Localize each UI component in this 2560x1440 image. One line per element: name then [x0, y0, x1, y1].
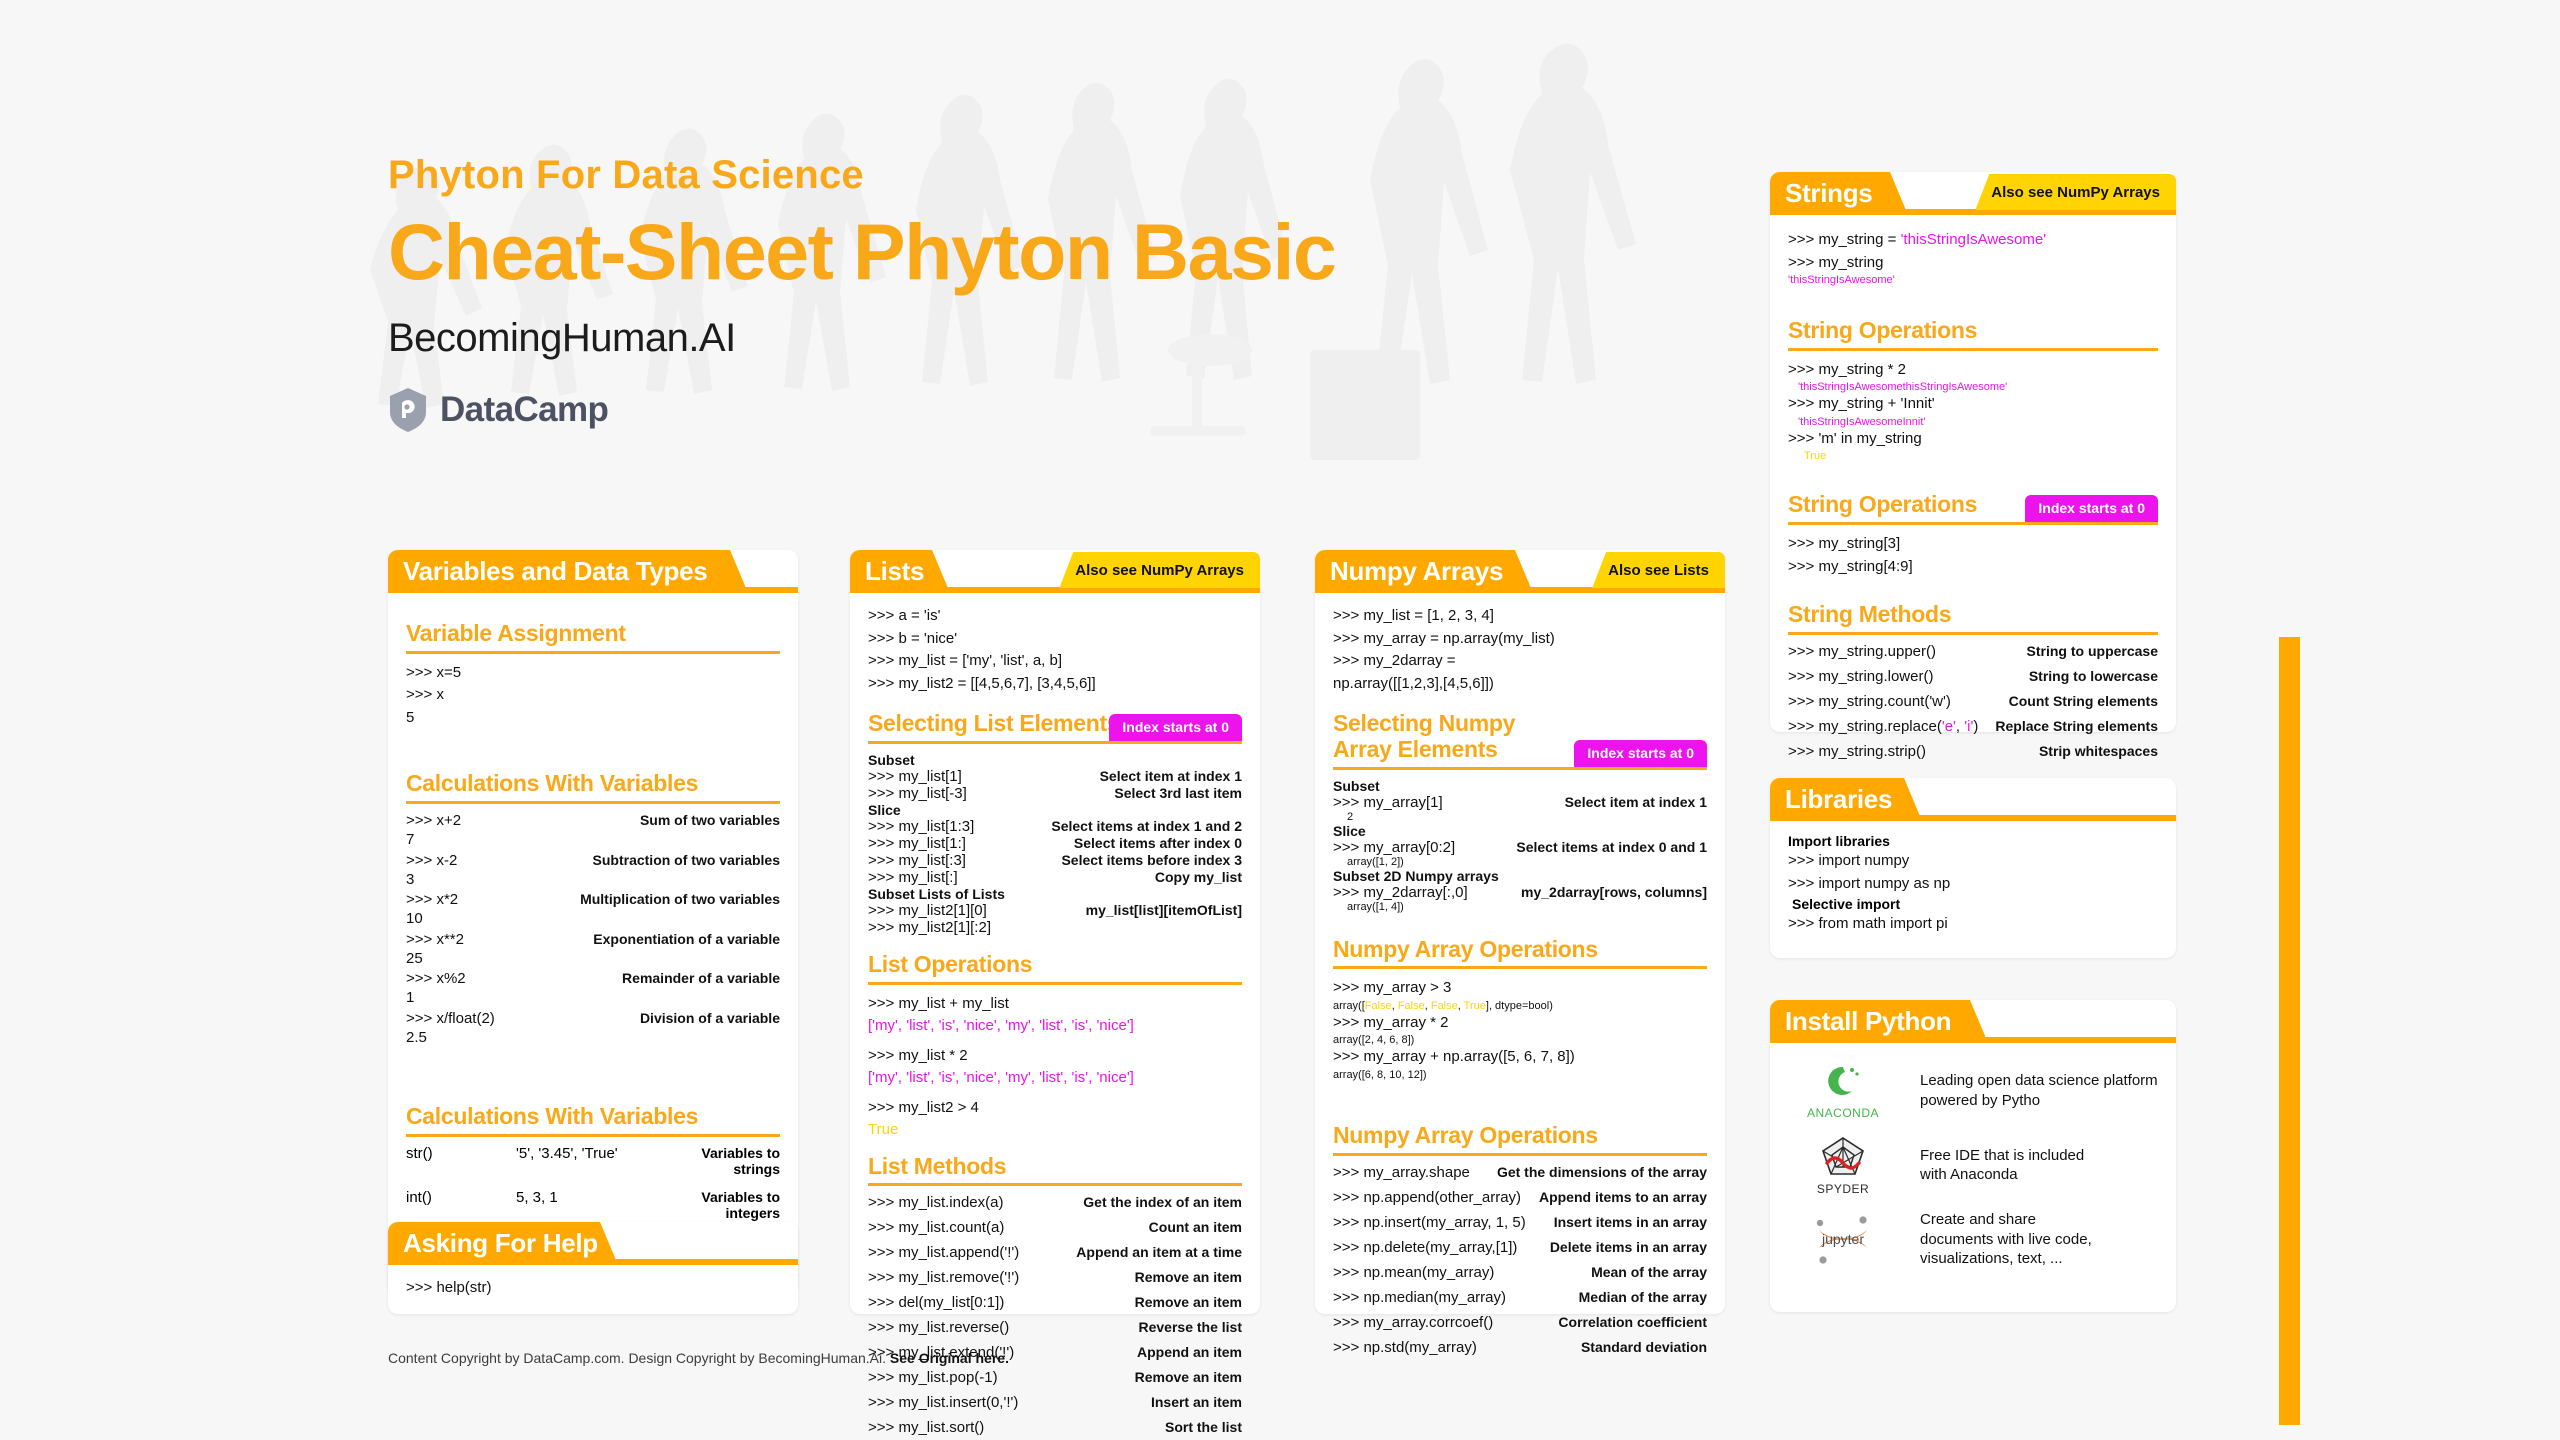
code-line: >>> my_string = 'thisStringIsAwesome' [1788, 229, 2158, 252]
card-header-libraries: Libraries [1770, 778, 2176, 821]
row-description: Count String elements [2009, 693, 2158, 709]
code-line: >>> my_array.shape [1333, 1164, 1470, 1181]
code-output: 'thisStringIsAwesomeInnit' [1788, 416, 2158, 428]
card-title-numpy: Numpy Arrays [1315, 556, 1503, 587]
row-description: Variables to strings [656, 1145, 780, 1177]
code-line: >>> my_list * 2 [868, 1045, 1242, 1068]
group-label: Subset Lists of Lists [868, 886, 1242, 902]
card-header-numpy: Numpy Arrays Also see Lists [1315, 550, 1725, 593]
string-methods-rows: >>> my_string.upper()String to uppercase… [1788, 643, 2158, 760]
output-prefix: array([ [1333, 1000, 1365, 1012]
list-methods-rows: >>> my_list.index(a)Get the index of an … [868, 1194, 1242, 1436]
row-description: Multiplication of two variables [580, 891, 780, 907]
code-line: >>> my_list = [1, 2, 3, 4] [1333, 605, 1707, 628]
code-output: 'thisStringIsAwesomethisStringIsAwesome' [1788, 381, 2158, 393]
badge-also-see-numpy-arrays[interactable]: Also see NumPy Arrays [1059, 552, 1260, 588]
row-description: Select items at index 1 and 2 [1051, 818, 1242, 834]
anaconda-icon [1815, 1061, 1871, 1105]
card-header-lists: Lists Also see NumPy Arrays [850, 550, 1260, 593]
code-line: >>> my_list.reverse() [868, 1319, 1009, 1336]
page-title: Cheat-Sheet Phyton Basic [388, 211, 1335, 294]
code-line: >>> x/float(2) [406, 1010, 495, 1027]
card-header-help: Asking For Help [388, 1222, 798, 1265]
section-title-selecting-numpy-line1: Selecting Numpy [1333, 711, 1707, 737]
row-description: Correlation coefficient [1558, 1314, 1707, 1330]
code-line: >>> my_list + my_list [868, 993, 1242, 1016]
code-output: 2.5 [406, 1027, 780, 1050]
code-line: >>> my_string.upper() [1788, 643, 1936, 660]
code-line: >>> np.insert(my_array, 1, 5) [1333, 1214, 1526, 1231]
strings-intro: >>> my_string = 'thisStringIsAwesome' >>… [1788, 229, 2158, 286]
code-line: >>> np.delete(my_array,[1]) [1333, 1239, 1517, 1256]
code-line: >>> my_list[:3] [868, 852, 966, 869]
code-line: >>> my_list[-3] [868, 785, 967, 802]
row-description: Median of the array [1579, 1289, 1707, 1305]
install-item-anaconda[interactable]: ANACONDA Leading open data science platf… [1788, 1061, 2158, 1120]
card-numpy-arrays: Numpy Arrays Also see Lists >>> my_list … [1315, 550, 1725, 1314]
code-line: >>> my_array > 3 [1333, 977, 1707, 1000]
jupyter-logo: jupyter [1788, 1213, 1898, 1265]
code-line: >>> np.append(other_array) [1333, 1189, 1521, 1206]
code-separator: , [1956, 718, 1964, 735]
card-title-install-python: Install Python [1770, 1006, 1951, 1037]
row-description: Select items before index 3 [1061, 852, 1242, 868]
string-literal: 'e' [1942, 718, 1956, 735]
jupyter-icon: jupyter [1811, 1213, 1875, 1265]
code-line: >>> my_list2 > 4 [868, 1097, 1242, 1120]
code-output: True [1788, 450, 2158, 462]
row-description: Insert items in an array [1554, 1214, 1707, 1230]
type-fn: int() [406, 1189, 516, 1221]
code-prefix: >>> my_string = [1788, 231, 1901, 248]
code-line: >>> from math import pi [1788, 912, 2158, 935]
code-output: ['my', 'list', 'is', 'nice', 'my', 'list… [868, 1015, 1242, 1038]
card-title-libraries: Libraries [1770, 784, 1892, 815]
code-line: >>> x**2 [406, 931, 464, 948]
anaconda-label: ANACONDA [1807, 1106, 1879, 1120]
section-title-numpy-array-operations: Numpy Array Operations [1333, 937, 1707, 963]
row-description: Get the index of an item [1083, 1194, 1242, 1210]
code-line: >>> my_string.replace('e', 'i') [1788, 718, 1978, 735]
row-description: Strip whitespaces [2039, 743, 2158, 759]
badge-index-starts-at-0[interactable]: Index starts at 0 [1109, 714, 1242, 741]
row-description: Append an item at a time [1076, 1244, 1242, 1260]
lists-intro: >>> a = 'is' >>> b = 'nice' >>> my_list … [868, 605, 1242, 695]
anaconda-logo: ANACONDA [1788, 1061, 1898, 1120]
code-line: >>> x+2 [406, 812, 461, 829]
install-item-spyder[interactable]: SPYDER Free IDE that is included with An… [1788, 1134, 2158, 1196]
section-title-calculations: Calculations With Variables [406, 771, 780, 797]
spyder-label: SPYDER [1817, 1182, 1869, 1196]
row-description: Reverse the list [1139, 1319, 1243, 1335]
code-output: array([False, False, False, True], dtype… [1333, 1000, 1707, 1012]
section-title-string-operations: String Operations [1788, 318, 2158, 344]
output-bool: False [1365, 1000, 1392, 1012]
row-description: Variables to integers [656, 1189, 780, 1221]
card-install-python: Install Python ANACONDA Leading open dat… [1770, 1000, 2176, 1312]
row-description: my_2darray[rows, columns] [1521, 884, 1707, 900]
string-operations-entries: >>> my_string * 2 'thisStringIsAwesometh… [1788, 359, 2158, 463]
row-description: Insert an item [1151, 1394, 1242, 1410]
card-header-variables: Variables and Data Types [388, 550, 798, 593]
row-description: Sort the list [1165, 1419, 1242, 1435]
numpy-operations-entries: >>> my_array > 3 array([False, False, Fa… [1333, 977, 1707, 1081]
code-line: >>> my_list.pop(-1) [868, 1369, 998, 1386]
card-lists: Lists Also see NumPy Arrays >>> a = 'is'… [850, 550, 1260, 1314]
numpy-methods-rows: >>> my_array.shapeGet the dimensions of … [1333, 1164, 1707, 1356]
string-literal: 'i' [1964, 718, 1973, 735]
badge-also-see-lists[interactable]: Also see Lists [1592, 552, 1725, 588]
group-label: Subset 2D Numpy arrays [1333, 868, 1707, 884]
code-line: >>> my_list.remove('!') [868, 1269, 1019, 1286]
code-line: >>> import numpy as np [1788, 872, 2158, 895]
code-output: 25 [406, 948, 780, 971]
code-line: >>> my_array * 2 [1333, 1012, 1707, 1035]
code-line: >>> import numpy [1788, 849, 2158, 872]
code-line: >>> my_list = ['my', 'list', a, b] [868, 650, 1242, 673]
code-output: 1 [406, 987, 780, 1010]
row-description: Sum of two variables [640, 812, 780, 828]
brand-name: BecomingHuman.AI [388, 316, 1335, 361]
numpy-intro: >>> my_list = [1, 2, 3, 4] >>> my_array … [1333, 605, 1707, 695]
install-description: Create and share documents with live cod… [1920, 1210, 2092, 1269]
spyder-logo: SPYDER [1788, 1134, 1898, 1196]
spyder-icon [1817, 1134, 1869, 1182]
string-literal: 'thisStringIsAwesome' [1901, 231, 2047, 248]
row-description: Select 3rd last item [1114, 785, 1242, 801]
code-line: >>> my_2darray[:,0] [1333, 884, 1468, 901]
code-line: >>> my_list.append('!') [868, 1244, 1019, 1261]
section-title-list-methods: List Methods [868, 1154, 1242, 1180]
code-line: >>> my_2darray = [1333, 650, 1707, 673]
card-title-strings: Strings [1770, 178, 1872, 209]
section-title-type-conversion: Calculations With Variables [406, 1104, 780, 1130]
code-line: >>> my_array.corrcoef() [1333, 1314, 1493, 1331]
row-description: String to uppercase [2027, 643, 2158, 659]
code-line: >>> my_list[1] [868, 768, 962, 785]
group-label: Subset [868, 752, 1242, 768]
selective-import-label: Selective import [1788, 896, 2158, 912]
row-description: Remove an item [1135, 1294, 1242, 1310]
code-line: >>> my_string [1788, 252, 2158, 275]
code-line: >>> del(my_list[0:1]) [868, 1294, 1004, 1311]
section-title-variable-assignment: Variable Assignment [406, 621, 780, 647]
list-operations-entries: >>> my_list + my_list ['my', 'list', 'is… [868, 993, 1242, 1142]
row-description: String to lowercase [2029, 668, 2158, 684]
code-output: 2 [1333, 811, 1707, 823]
variable-assignment-lines: >>> x=5 >>> x 5 [406, 662, 780, 730]
row-description: Get the dimensions of the array [1497, 1164, 1707, 1180]
card-asking-for-help: Asking For Help >>> help(str) [388, 1222, 798, 1314]
code-prefix: >>> my_string.replace( [1788, 718, 1942, 735]
code-line: >>> my_string.lower() [1788, 668, 1933, 685]
datacamp-shield-icon [388, 387, 428, 433]
datacamp-logo-text: DataCamp [440, 390, 608, 430]
row-description: my_list[list][itemOfList] [1086, 902, 1242, 918]
code-line: >>> my_list[1:3] [868, 818, 974, 835]
code-output: True [868, 1119, 1242, 1142]
code-line: >>> 'm' in my_string [1788, 428, 2158, 451]
code-line: >>> my_array[0:2] [1333, 839, 1455, 856]
string-indexing-lines: >>> my_string[3] >>> my_string[4:9] [1788, 533, 2158, 578]
card-title-variables: Variables and Data Types [388, 556, 707, 587]
code-line: >>> np.mean(my_array) [1333, 1264, 1494, 1281]
code-line: >>> x*2 [406, 891, 458, 908]
datacamp-logo: DataCamp [388, 387, 1335, 433]
code-output: 5 [406, 707, 780, 730]
code-output: array([2, 4, 6, 8]) [1333, 1034, 1707, 1046]
row-description: Remainder of a variable [622, 970, 780, 986]
install-description: Leading open data science platform power… [1920, 1071, 2158, 1110]
code-output: 7 [406, 829, 780, 852]
right-edge-accent-bar [2279, 637, 2300, 1425]
code-line: >>> my_array = np.array(my_list) [1333, 628, 1707, 651]
footer-link[interactable]: See Original here. [890, 1350, 1009, 1366]
header-subtitle: Phyton For Data Science [388, 155, 1335, 195]
code-line: >>> my_list.count(a) [868, 1219, 1004, 1236]
card-title-lists: Lists [850, 556, 924, 587]
card-header-install-python: Install Python [1770, 1000, 2176, 1043]
cheatsheet-page: Phyton For Data Science Cheat-Sheet Phyt… [0, 0, 2560, 1440]
row-description: Select item at index 1 [1565, 794, 1707, 810]
code-output: ['my', 'list', 'is', 'nice', 'my', 'list… [868, 1067, 1242, 1090]
calculations-rows: >>> x+2Sum of two variables 7 >>> x-2Sub… [406, 812, 780, 1049]
code-line: >>> my_string * 2 [1788, 359, 2158, 382]
code-line: >>> my_list2 = [[4,5,6,7], [3,4,5,6]] [868, 673, 1242, 696]
code-line: >>> my_string.count('w') [1788, 693, 1951, 710]
footer: Content Copyright by DataCamp.com. Desig… [388, 1350, 1009, 1366]
code-line: >>> my_list[:] [868, 869, 958, 886]
row-description: Division of a variable [640, 1010, 780, 1026]
code-line: >>> np.median(my_array) [1333, 1289, 1506, 1306]
code-line: >>> my_string + 'Innit' [1788, 393, 2158, 416]
section-title-list-operations: List Operations [868, 952, 1242, 978]
code-line: >>> b = 'nice' [868, 628, 1242, 651]
code-line: >>> my_list[1:] [868, 835, 966, 852]
code-line: >>> my_string[4:9] [1788, 556, 2158, 579]
row-description: Replace String elements [1995, 718, 2158, 734]
type-fn: str() [406, 1145, 516, 1177]
row-description: Standard deviation [1581, 1339, 1707, 1355]
code-line: >>> my_list2[1][:2] [868, 919, 991, 936]
code-output: 'thisStringIsAwesome' [1788, 274, 2158, 286]
row-description: Delete items in an array [1550, 1239, 1707, 1255]
card-title-help: Asking For Help [388, 1228, 598, 1259]
code-output: 3 [406, 869, 780, 892]
section-title-numpy-array-methods: Numpy Array Operations [1333, 1123, 1707, 1149]
row-description: Select items at index 0 and 1 [1516, 839, 1707, 855]
row-description: Remove an item [1135, 1369, 1242, 1385]
footer-text: Content Copyright by DataCamp.com. Desig… [388, 1350, 890, 1366]
badge-also-see-numpy-arrays[interactable]: Also see NumPy Arrays [1975, 174, 2176, 210]
page-header: Phyton For Data Science Cheat-Sheet Phyt… [388, 155, 1335, 433]
card-variables-and-data-types: Variables and Data Types Variable Assign… [388, 550, 798, 1295]
code-line: >>> x [406, 684, 780, 707]
row-description: Copy my_list [1155, 869, 1242, 885]
row-description: Select items after index 0 [1074, 835, 1242, 851]
selecting-numpy-rows: Subset >>> my_array[1]Select item at ind… [1333, 778, 1707, 913]
card-header-strings: Strings Also see NumPy Arrays [1770, 172, 2176, 215]
row-description: Select item at index 1 [1100, 768, 1242, 784]
group-label: Subset [1333, 778, 1707, 794]
type-value: 5, 3, 1 [516, 1189, 656, 1221]
code-line: >>> np.std(my_array) [1333, 1339, 1477, 1356]
selecting-list-elements-rows: Subset >>> my_list[1]Select item at inde… [868, 752, 1242, 936]
code-line: >>> my_array[1] [1333, 794, 1443, 811]
code-line: >>> x%2 [406, 970, 466, 987]
row-description: Append an item [1137, 1344, 1242, 1360]
code-line: >>> help(str) [406, 1277, 780, 1300]
row-description: Mean of the array [1591, 1264, 1707, 1280]
row-description: Exponentiation of a variable [593, 931, 780, 947]
card-libraries: Libraries Import libraries >>> import nu… [1770, 778, 2176, 958]
output-bool: True [1464, 1000, 1486, 1012]
type-value: '5', '3.45', 'True' [516, 1145, 656, 1177]
jupyter-wordmark: jupyter [1821, 1231, 1864, 1247]
output-bool: False [1431, 1000, 1458, 1012]
code-suffix: ) [1973, 718, 1978, 735]
row-description: Remove an item [1135, 1269, 1242, 1285]
code-line: np.array([[1,2,3],[4,5,6]]) [1333, 673, 1707, 696]
code-line: >>> my_list.index(a) [868, 1194, 1003, 1211]
row-description: Append items to an array [1539, 1189, 1707, 1205]
code-output: array([1, 4]) [1333, 901, 1707, 913]
output-bool: False [1398, 1000, 1425, 1012]
badge-index-starts-at-0[interactable]: Index starts at 0 [2025, 495, 2158, 522]
import-libraries-label: Import libraries [1788, 833, 2158, 849]
group-label: Slice [1333, 823, 1707, 839]
code-output: 10 [406, 908, 780, 931]
row-description: Subtraction of two variables [593, 852, 780, 868]
code-line: >>> my_string[3] [1788, 533, 2158, 556]
row-description: Count an item [1149, 1219, 1242, 1235]
install-item-jupyter[interactable]: jupyter Create and share documents with … [1788, 1210, 2158, 1269]
card-strings: Strings Also see NumPy Arrays >>> my_str… [1770, 172, 2176, 732]
section-title-string-methods: String Methods [1788, 602, 2158, 628]
output-suffix: ], dtype=bool) [1486, 1000, 1553, 1012]
code-line: >>> my_list.sort() [868, 1419, 984, 1436]
install-description: Free IDE that is included with Anaconda [1920, 1146, 2084, 1185]
code-line: >>> x-2 [406, 852, 457, 869]
badge-index-starts-at-0[interactable]: Index starts at 0 [1574, 740, 1707, 767]
code-line: >>> my_array + np.array([5, 6, 7, 8]) [1333, 1046, 1707, 1069]
group-label: Slice [868, 802, 1242, 818]
code-line: >>> x=5 [406, 662, 780, 685]
code-line: >>> a = 'is' [868, 605, 1242, 628]
code-output: array([6, 8, 10, 12]) [1333, 1069, 1707, 1081]
code-line: >>> my_list.insert(0,'!') [868, 1394, 1018, 1411]
code-line: >>> my_list2[1][0] [868, 902, 987, 919]
code-output: array([1, 2]) [1333, 856, 1707, 868]
code-line: >>> my_string.strip() [1788, 743, 1926, 760]
